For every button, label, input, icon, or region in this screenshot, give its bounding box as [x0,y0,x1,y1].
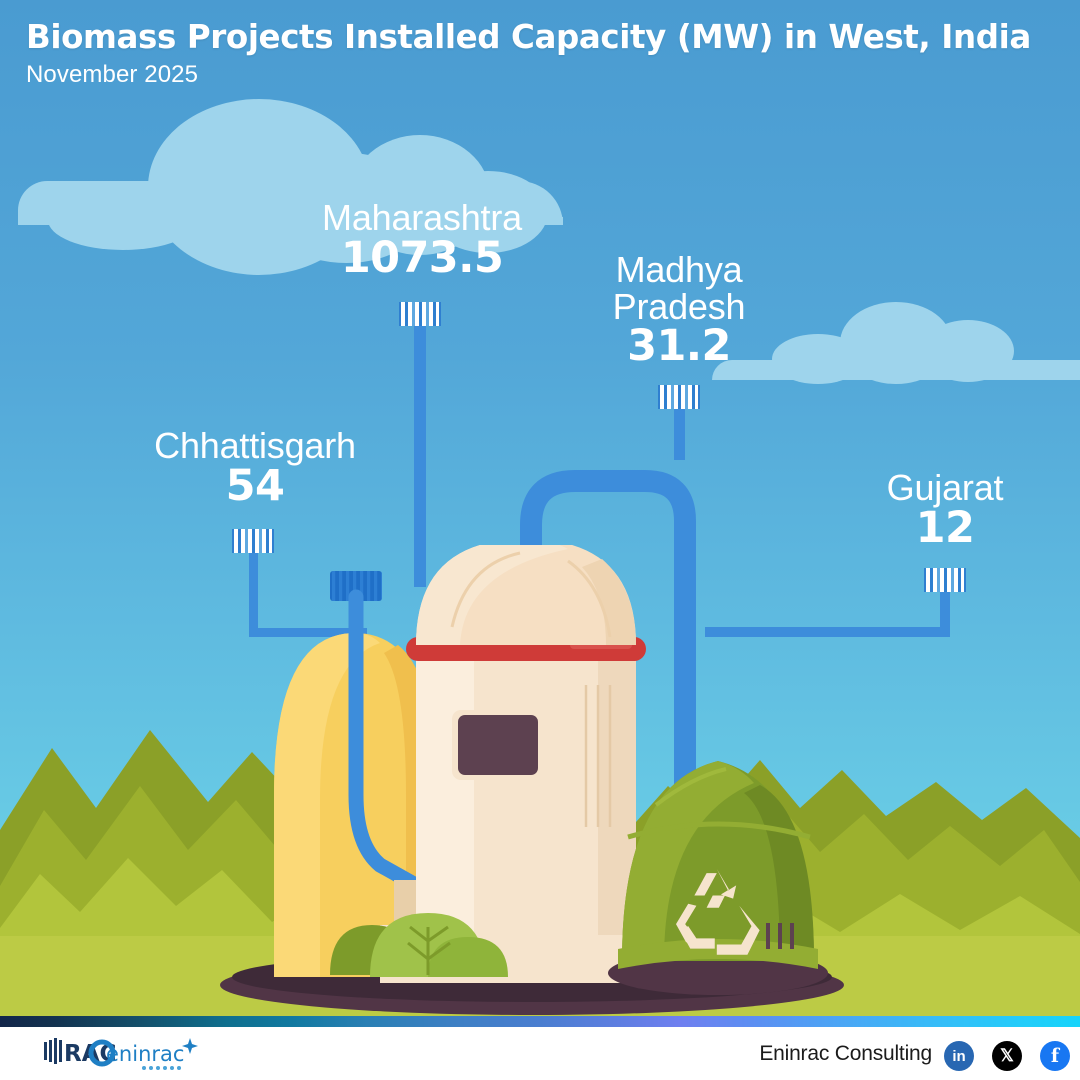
linkedin-icon[interactable]: in [944,1041,974,1071]
callout-maharashtra-value: 1073.5 [282,236,562,281]
x-twitter-icon[interactable]: 𝕏 [992,1041,1022,1071]
footer-brand-label: Eninrac Consulting [759,1042,932,1066]
header: Biomass Projects Installed Capacity (MW)… [26,18,1056,89]
biogas-plant-illustration [220,545,870,1020]
facebook-glyph: f [1051,1045,1059,1067]
page-subtitle: November 2025 [26,61,1056,89]
callout-gujarat-label: Gujarat [825,470,1065,507]
callout-chhattisgarh-value: 54 [115,464,395,509]
svg-text:eninrac: eninrac [106,1042,184,1066]
callout-madhya-pradesh-value: 31.2 [554,324,804,369]
footer-gradient-bar [0,1016,1080,1027]
callout-chhattisgarh-label: Chhattisgarh [115,428,395,465]
callout-chhattisgarh[interactable]: Chhattisgarh 54 [115,428,395,509]
callout-madhya-pradesh-label: Madhya Pradesh [554,252,804,325]
linkedin-glyph: in [952,1048,965,1065]
callout-gujarat-value: 12 [825,506,1065,551]
callout-gujarat[interactable]: Gujarat 12 [825,470,1065,551]
callout-maharashtra-label: Maharashtra [282,200,562,237]
connector-cap-chhattisgarh [232,529,274,553]
callout-madhya-pradesh[interactable]: Madhya Pradesh 31.2 [554,252,804,370]
facebook-icon[interactable]: f [1040,1041,1070,1071]
callout-maharashtra[interactable]: Maharashtra 1073.5 [282,200,562,281]
infographic-canvas: Biomass Projects Installed Capacity (MW)… [0,0,1080,1080]
eninrac-logo[interactable]: RAC eninrac [44,1036,204,1074]
connector-cap-gujarat [924,568,966,592]
footer: RAC eninrac Eninrac Consulting in 𝕏 f [0,1027,1080,1080]
x-twitter-glyph: 𝕏 [1000,1046,1014,1066]
page-title: Biomass Projects Installed Capacity (MW)… [26,18,1056,56]
connector-cap-madhya-pradesh [658,385,700,409]
connector-cap-maharashtra [399,302,441,326]
